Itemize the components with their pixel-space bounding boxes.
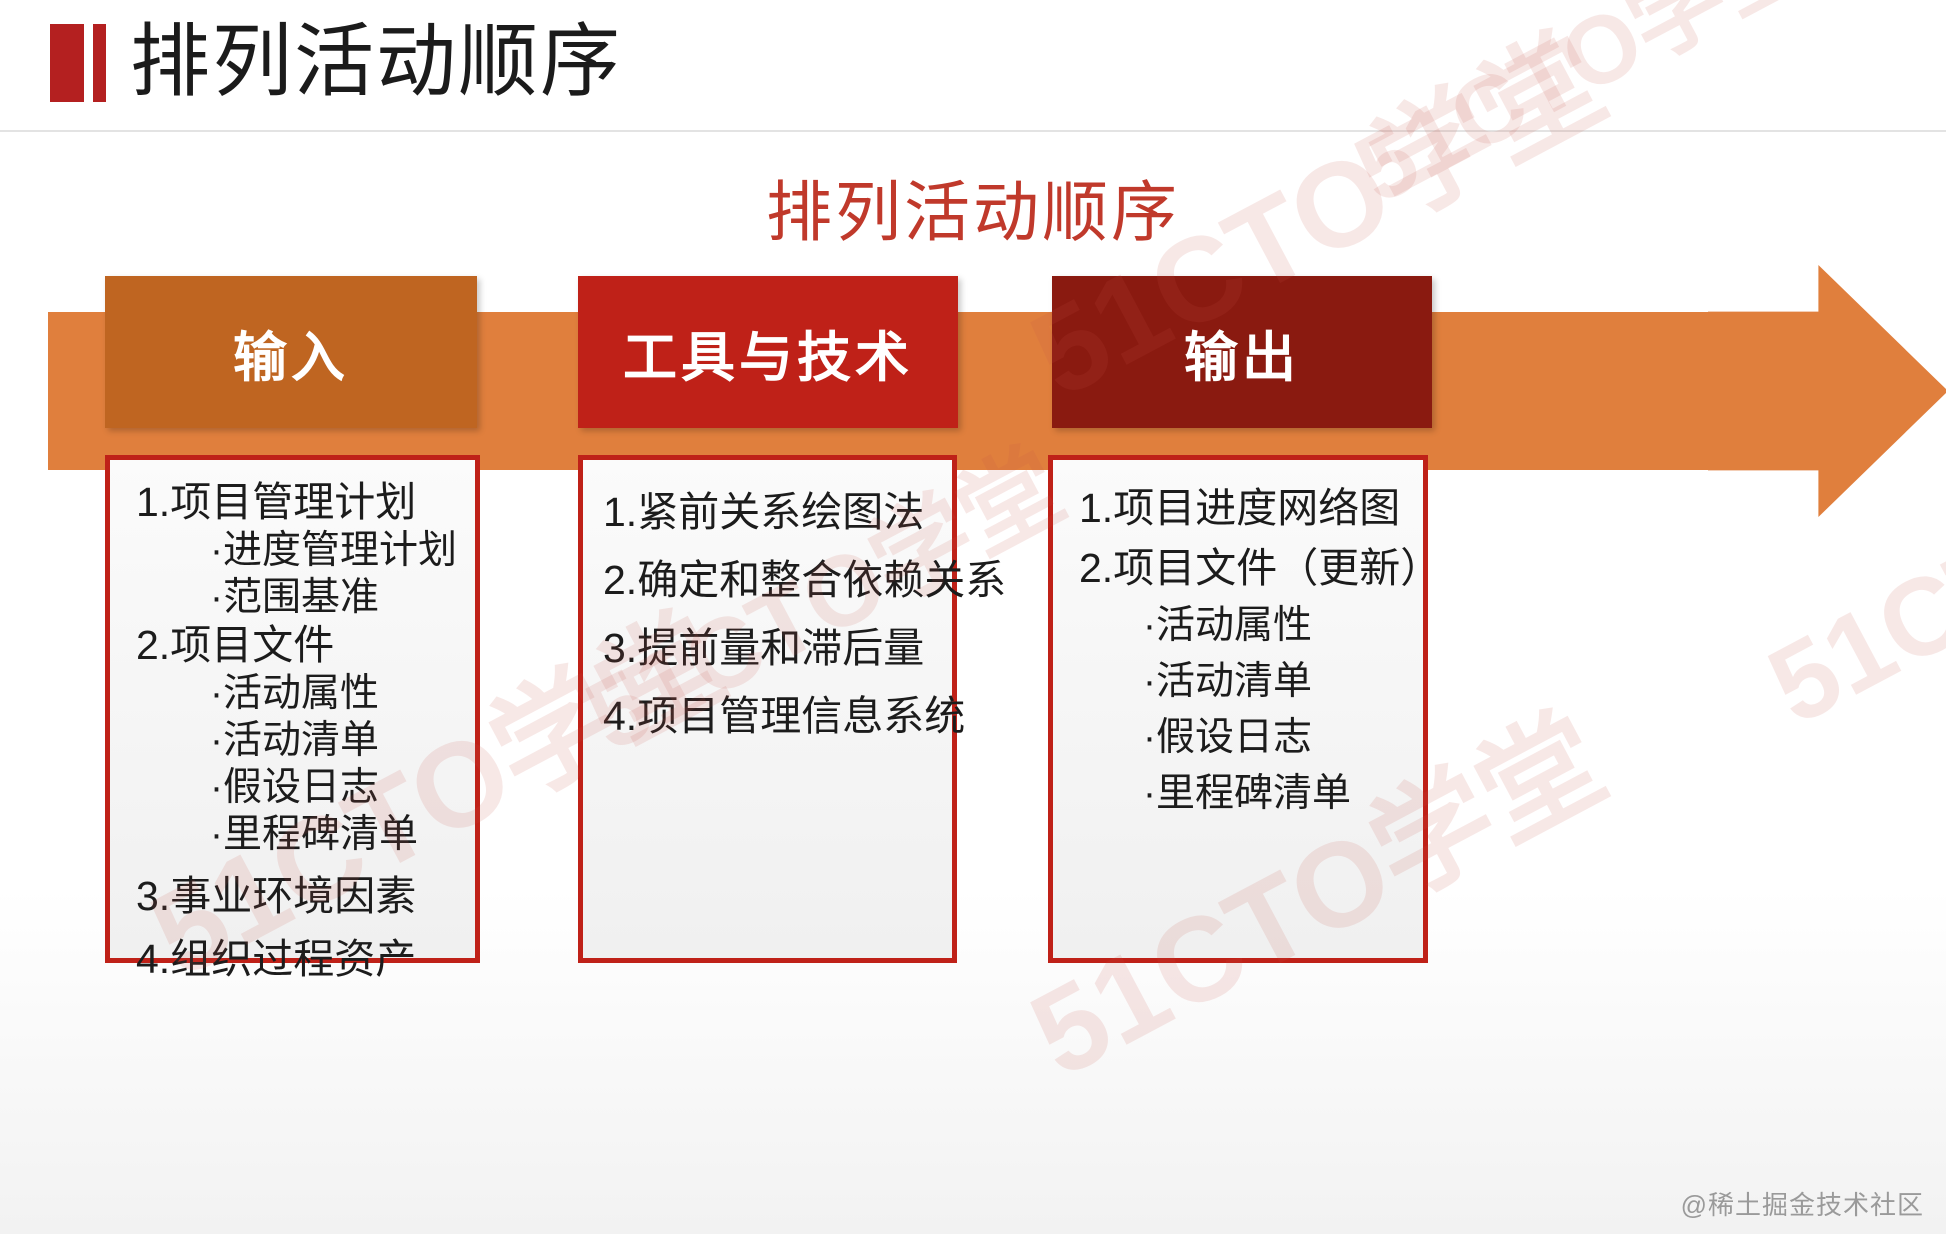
list-item: ·活动属性 (1065, 598, 1413, 654)
phase-label: 输入 (233, 313, 349, 392)
credit-watermark: @稀土掘金技术社区 (1681, 1185, 1924, 1222)
content-box-outputs: 1.项目进度网络图 2.项目文件（更新） ·活动属性 ·活动清单 ·假设日志 ·… (1048, 455, 1428, 963)
list-item: ·活动清单 (122, 717, 465, 764)
list-item: 2.项目文件（更新） (1065, 538, 1413, 598)
list-item: ·进度管理计划 (122, 527, 465, 574)
list-item: ·假设日志 (1065, 710, 1413, 766)
list-item: 3.事业环境因素 (122, 872, 465, 921)
list-item: 4.组织过程资产 (122, 935, 465, 984)
phase-box-inputs[interactable]: 输入 (105, 276, 477, 428)
slide-canvas: 排列活动顺序 排列活动顺序 输入 工具与技术 输出 1.项目管理计划 ·进度管理… (0, 0, 1946, 1234)
diagram-subtitle: 排列活动顺序 (0, 168, 1946, 256)
list-item: 4.项目管理信息系统 (595, 682, 942, 750)
title-accent-mark (50, 24, 108, 102)
list-item: ·假设日志 (122, 764, 465, 811)
phase-label: 工具与技术 (623, 313, 913, 392)
list-item: 1.项目进度网络图 (1065, 478, 1413, 538)
accent-bar-thin (93, 24, 106, 102)
phase-label: 输出 (1184, 313, 1300, 392)
list-item: ·里程碑清单 (1065, 766, 1413, 822)
content-box-tools-and-techniques: 1.紧前关系绘图法 2.确定和整合依赖关系 3.提前量和滞后量 4.项目管理信息… (578, 455, 957, 963)
list-item: ·范围基准 (122, 574, 465, 621)
page-title: 排列活动顺序 (130, 8, 622, 116)
content-box-inputs: 1.项目管理计划 ·进度管理计划 ·范围基准 2.项目文件 ·活动属性 ·活动清… (105, 455, 480, 963)
header-divider (0, 130, 1946, 132)
list-item: ·活动属性 (122, 670, 465, 717)
list-item: 2.项目文件 (122, 621, 465, 670)
accent-bar-wide (50, 24, 84, 102)
phase-box-tools-and-techniques[interactable]: 工具与技术 (578, 276, 958, 428)
slide-header: 排列活动顺序 (0, 0, 1946, 130)
arrow-head-icon (1708, 265, 1946, 517)
list-item: 1.紧前关系绘图法 (595, 478, 942, 546)
list-item: ·活动清单 (1065, 654, 1413, 710)
list-item: 1.项目管理计划 (122, 478, 465, 527)
list-item: 3.提前量和滞后量 (595, 614, 942, 682)
list-item: 2.确定和整合依赖关系 (595, 546, 942, 614)
phase-box-outputs[interactable]: 输出 (1052, 276, 1432, 428)
list-item: ·里程碑清单 (122, 811, 465, 858)
